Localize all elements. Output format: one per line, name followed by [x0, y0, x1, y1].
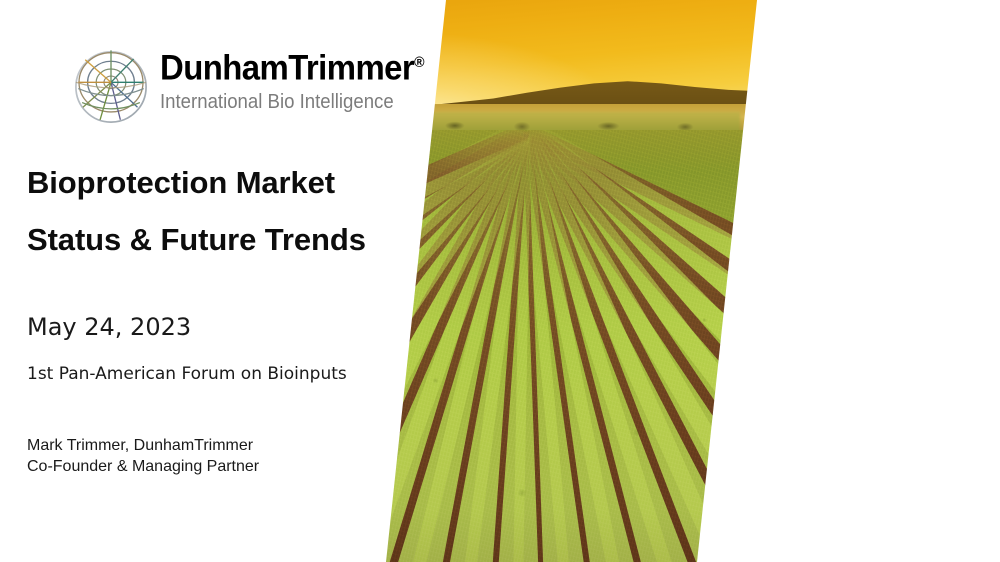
crop-row: [370, 130, 533, 562]
crop-row: [519, 130, 735, 562]
presenter-name: Mark Trimmer, DunhamTrimmer: [27, 435, 259, 456]
soil-furrow: [522, 130, 770, 411]
presentation-date: May 24, 2023: [27, 313, 191, 341]
crop-row: [519, 130, 770, 440]
leaf-texture: [370, 130, 770, 562]
soil-furrow: [370, 130, 529, 337]
crop-row: [370, 130, 532, 368]
lettuce-field: [370, 130, 770, 562]
presentation-slide: DunhamTrimmer® International Bio Intelli…: [0, 0, 1000, 562]
soil-furrow: [378, 130, 529, 562]
crop-row: [458, 130, 532, 562]
globe-wireframe-icon: [72, 46, 150, 128]
soil-furrow: [523, 130, 545, 562]
registered-trademark-icon: ®: [414, 54, 424, 71]
photo-alt-text: Rows of green lettuce crops in a field a…: [370, 0, 371, 1]
company-logo: DunhamTrimmer® International Bio Intelli…: [72, 44, 441, 128]
logo-wordmark-text: DunhamTrimmer: [160, 49, 414, 88]
crop-row: [520, 130, 770, 387]
crop-row: [519, 130, 770, 557]
crop-row: [370, 130, 533, 511]
soil-furrow: [522, 130, 770, 505]
crop-row: [370, 130, 533, 420]
crop-row: [519, 130, 770, 487]
field-texture: [370, 130, 770, 562]
soil-furrow: [370, 130, 530, 562]
logo-text-group: DunhamTrimmer® International Bio Intelli…: [160, 44, 441, 114]
valley-fields: [410, 112, 740, 134]
crop-row: [403, 130, 533, 562]
soil-furrow: [489, 130, 529, 562]
soil-furrow: [370, 130, 530, 390]
logo-tagline: International Bio Intelligence: [160, 90, 422, 114]
soil-furrow: [523, 130, 598, 562]
crop-row: [370, 130, 533, 562]
field-vignette: [370, 130, 770, 562]
event-name: 1st Pan-American Forum on Bioinputs: [27, 363, 347, 385]
soil-furrow: [370, 130, 530, 526]
soil-furrow: [522, 130, 770, 461]
soil-furrow: [370, 130, 530, 559]
soil-furrow: [370, 130, 530, 488]
page-title-line-2: Status & Future Trends: [27, 223, 366, 257]
crop-row: [520, 130, 574, 562]
soil-furrow: [522, 130, 758, 562]
crop-row: [520, 130, 628, 562]
crop-row: [370, 130, 534, 545]
soil-furrow: [522, 130, 770, 541]
crop-row: [512, 130, 531, 562]
soil-furrow: [523, 130, 770, 353]
soil-furrow: [522, 130, 652, 562]
logo-wordmark: DunhamTrimmer®: [160, 44, 425, 88]
soil-furrow: [433, 130, 529, 562]
crop-row: [518, 130, 770, 526]
crop-row: [519, 130, 683, 562]
soil-furrow: [370, 130, 530, 441]
presenter-info: Mark Trimmer, DunhamTrimmer Co-Founder &…: [27, 435, 259, 477]
page-title-line-1: Bioprotection Market: [27, 166, 335, 200]
presenter-role: Co-Founder & Managing Partner: [27, 456, 259, 477]
crop-row: [370, 130, 533, 469]
soil-furrow: [522, 130, 706, 562]
